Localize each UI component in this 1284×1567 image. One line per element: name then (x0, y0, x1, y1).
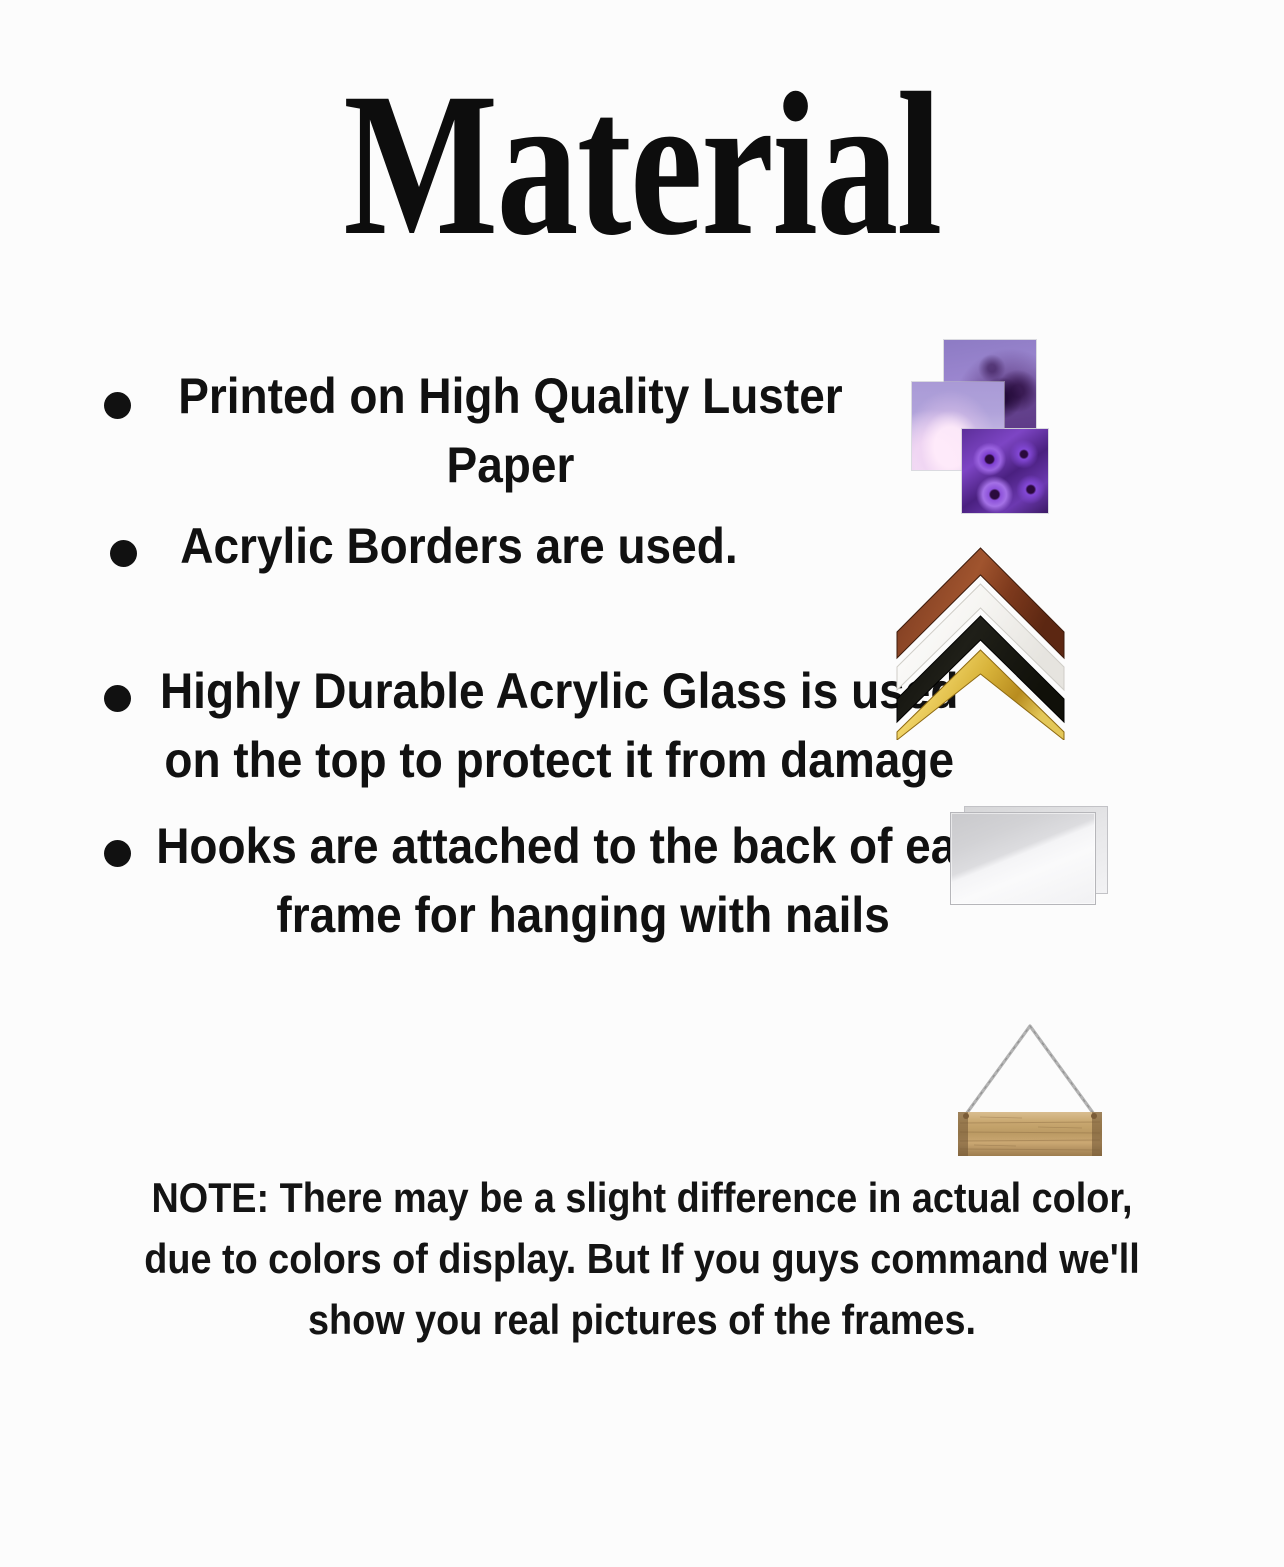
glass-front-panel (950, 812, 1096, 905)
list-item: Acrylic Borders are used. (0, 512, 1284, 657)
hanging-wire (964, 1026, 1096, 1117)
hanging-sign-svg (950, 1012, 1115, 1167)
frame-corner-chevrons-image (888, 540, 1073, 740)
list-item: Printed on High Quality Luster Paper (0, 362, 1284, 512)
list-item-label: Hooks are attached to the back of each f… (156, 818, 1010, 943)
note-text: NOTE: There may be a slight difference i… (120, 1168, 1164, 1351)
wire-anchor-right (1091, 1113, 1097, 1119)
list-item-label: Highly Durable Acrylic Glass is used on … (160, 663, 958, 788)
list-item-label: Printed on High Quality Luster Paper (178, 368, 842, 493)
hanging-wire-highlight (964, 1026, 1096, 1117)
list-item-label: Acrylic Borders are used. (180, 518, 737, 574)
acrylic-glass-sheet-image (950, 806, 1108, 906)
frame-chevrons-svg (888, 540, 1073, 740)
purple-photo-stack-image (900, 330, 1065, 525)
hanging-wooden-sign-image (950, 1012, 1115, 1167)
page-title: Material (128, 62, 1155, 267)
material-info-graphic: Material Printed on High Quality Luster … (0, 0, 1284, 1567)
purple-daisies-photo (962, 429, 1048, 513)
list-item: Highly Durable Acrylic Glass is used on … (0, 657, 1284, 812)
wire-anchor-left (963, 1113, 969, 1119)
